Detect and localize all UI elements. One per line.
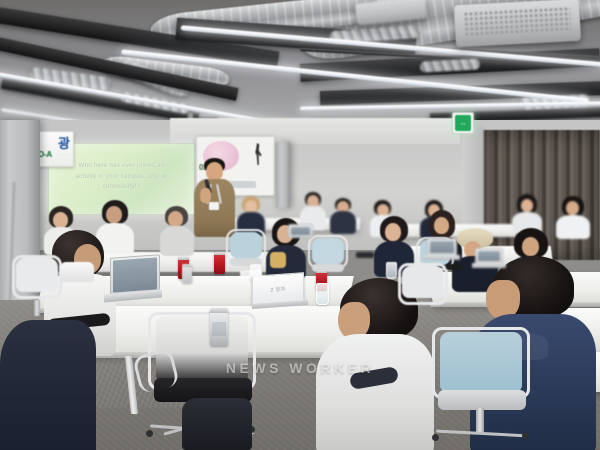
can-top xyxy=(210,308,228,313)
laptop xyxy=(472,248,506,270)
smartphone xyxy=(446,263,462,270)
ac-grille xyxy=(463,6,571,38)
office-chair xyxy=(396,266,452,326)
chair-post xyxy=(34,300,40,316)
projection-line-2: activity in your campus, city, or xyxy=(61,172,183,183)
sign-korean-text: 광 xyxy=(58,133,70,152)
beverage-can-silver xyxy=(210,308,228,346)
smartphone xyxy=(356,252,374,258)
torso xyxy=(160,226,194,256)
chair-frame xyxy=(398,263,448,305)
chair-caster xyxy=(432,434,439,441)
can-top xyxy=(214,252,225,255)
laptop-screen xyxy=(478,251,500,261)
projection-line-3: community!? xyxy=(61,182,183,193)
photo-canvas: ↔ Who here has ever joined an activity i… xyxy=(0,0,600,450)
head xyxy=(106,206,122,223)
projection-text: Who here has ever joined an activity in … xyxy=(61,161,183,194)
head xyxy=(522,237,539,256)
chair-seat xyxy=(438,390,526,410)
backpack xyxy=(182,398,252,450)
poster-figure-icon xyxy=(253,143,263,165)
water-glass xyxy=(316,283,329,305)
tent-card-label: 2 일차 xyxy=(271,285,286,293)
torso xyxy=(330,211,356,234)
can-label xyxy=(212,322,226,336)
water-glass xyxy=(386,262,397,279)
laptop-screen xyxy=(291,227,310,235)
chair-caster xyxy=(522,432,529,439)
speaker-hand xyxy=(200,188,211,203)
office-chair xyxy=(420,332,540,450)
laptop-screen xyxy=(430,241,454,253)
chair-post xyxy=(476,408,484,434)
head xyxy=(53,212,68,228)
torso-light-shirt xyxy=(316,334,434,450)
can-silver xyxy=(182,264,192,283)
can-top xyxy=(316,270,327,273)
office-chair xyxy=(306,238,350,284)
structural-column xyxy=(276,142,290,208)
laptop-lid xyxy=(288,224,313,238)
office-chair xyxy=(10,258,66,324)
laptop-screen xyxy=(113,257,157,292)
exit-sign: ↔ xyxy=(452,112,474,134)
laptop-base xyxy=(472,263,506,268)
audience-person-foreground xyxy=(0,320,96,450)
head xyxy=(566,201,579,215)
bag-white xyxy=(60,262,94,282)
chair-caster xyxy=(146,430,153,437)
head xyxy=(168,211,183,227)
audience-person xyxy=(160,206,194,254)
torso xyxy=(0,320,96,450)
chair-frame xyxy=(432,327,530,399)
head xyxy=(385,223,401,241)
audience-person xyxy=(512,194,542,232)
soda-can-red xyxy=(214,252,225,274)
projection-line-1: Who here has ever joined an xyxy=(61,161,183,172)
can-top xyxy=(178,257,189,260)
laptop-lid xyxy=(475,248,503,264)
ac-cassette-unit xyxy=(454,0,581,47)
bag xyxy=(270,252,286,268)
head xyxy=(434,217,449,234)
audience-person xyxy=(556,196,590,236)
laptop-lid xyxy=(427,238,457,256)
torso xyxy=(556,215,590,239)
laptop-base xyxy=(424,255,460,260)
can-top xyxy=(182,264,192,267)
laptop xyxy=(286,224,316,244)
laptop xyxy=(104,256,162,302)
laptop xyxy=(424,238,460,262)
head xyxy=(521,199,533,212)
name-badge xyxy=(209,202,219,210)
chair-frame xyxy=(12,255,62,299)
exit-sign-icon: ↔ xyxy=(455,115,471,131)
audience-person xyxy=(330,198,356,232)
